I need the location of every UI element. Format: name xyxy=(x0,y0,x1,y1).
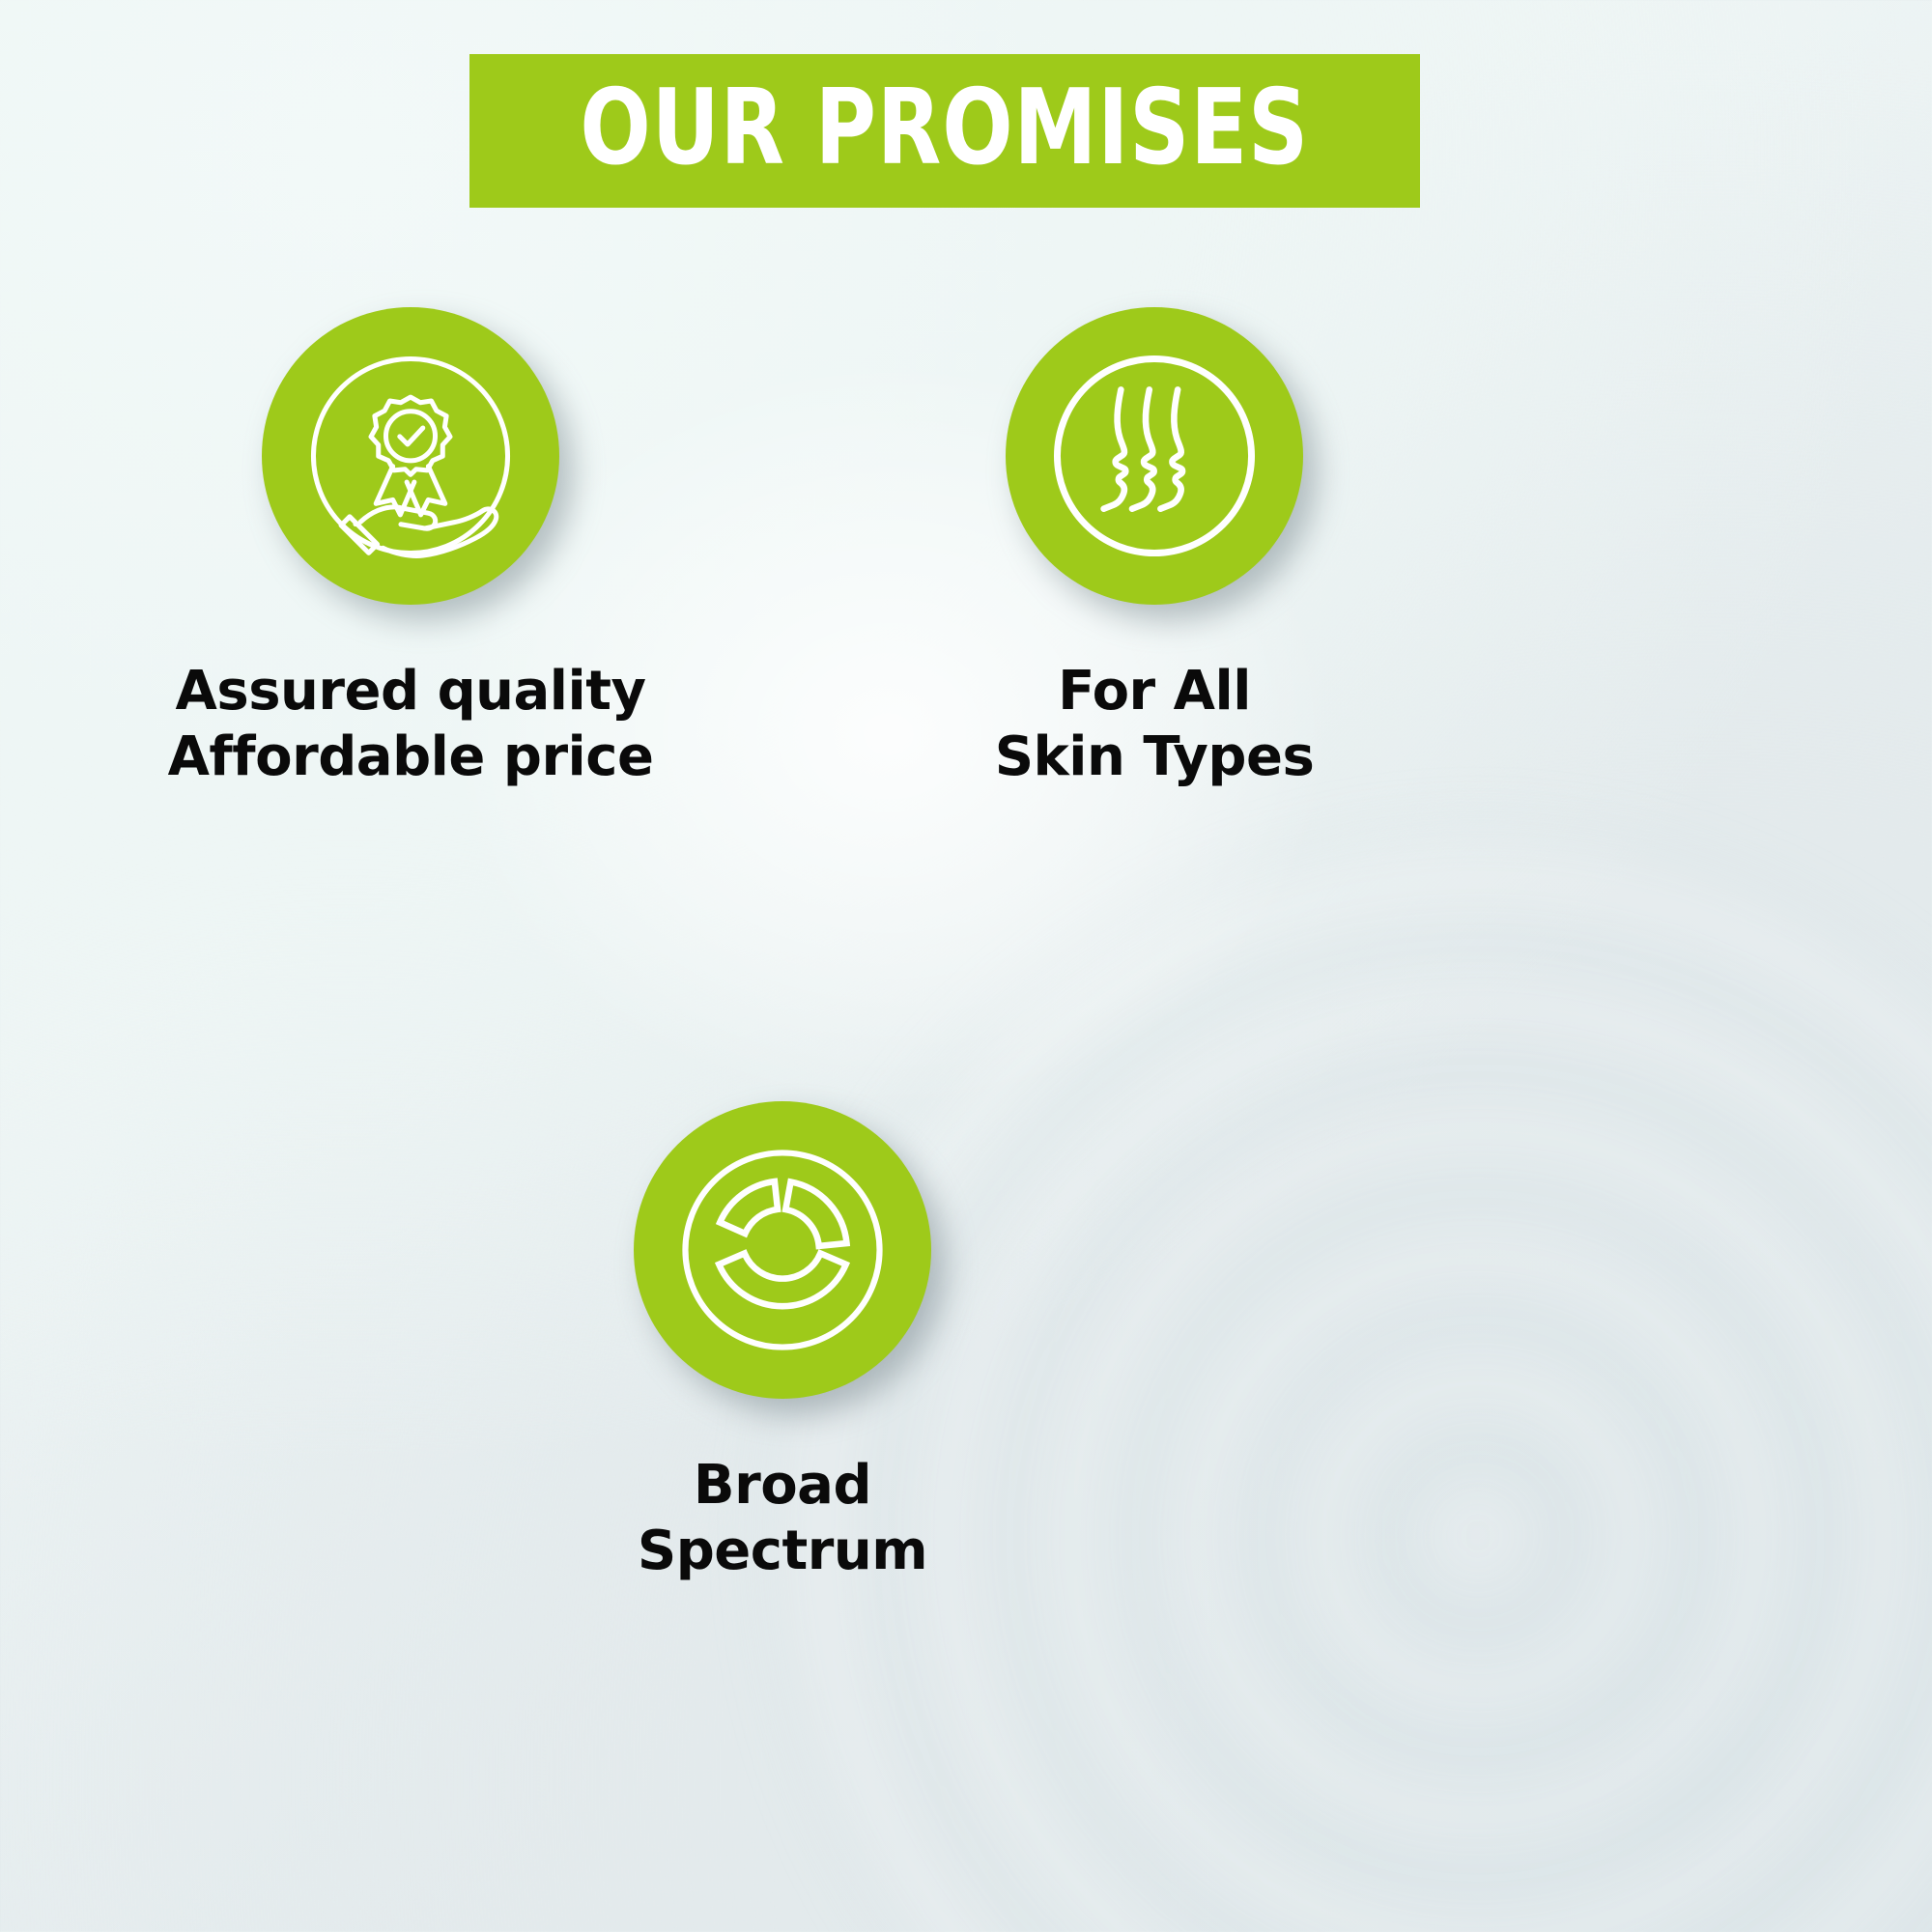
three-face-profiles-icon xyxy=(1042,344,1266,568)
promise-item-assured-quality: Assured quality Affordable price xyxy=(155,307,667,791)
promise-label-line2: Spectrum xyxy=(638,1519,927,1584)
promise-label: Broad Spectrum xyxy=(638,1453,927,1585)
section-title-banner: OUR PROMISES xyxy=(469,54,1420,208)
promise-label: Assured quality Affordable price xyxy=(168,659,654,791)
promise-label-line2: Affordable price xyxy=(168,724,654,790)
promise-label-line1: For All xyxy=(995,659,1315,724)
promise-label: For All Skin Types xyxy=(995,659,1315,791)
page-title: OUR PROMISES xyxy=(581,76,1310,181)
promise-label-line2: Skin Types xyxy=(995,724,1315,790)
award-badge-in-hand-icon xyxy=(298,344,523,568)
promise-label-line1: Assured quality xyxy=(168,659,654,724)
promise-icon-circle xyxy=(262,307,559,605)
promise-icon-circle xyxy=(634,1101,931,1399)
promise-item-all-skin-types: For All Skin Types xyxy=(898,307,1410,791)
promise-label-line1: Broad xyxy=(638,1453,927,1519)
broad-spectrum-donut-icon xyxy=(670,1138,895,1362)
promise-icon-circle xyxy=(1006,307,1303,605)
promise-item-broad-spectrum: Broad Spectrum xyxy=(526,1101,1038,1585)
